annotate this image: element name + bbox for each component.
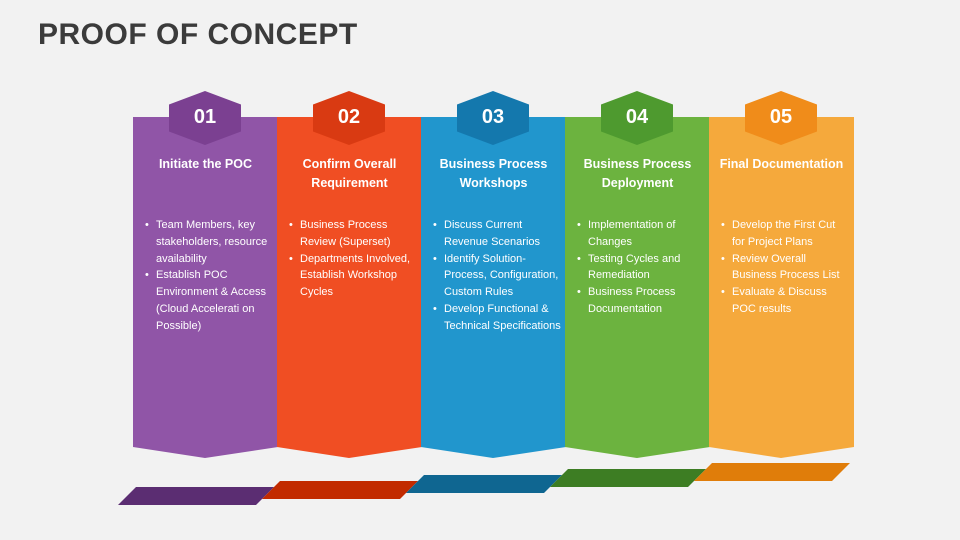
step-number-hexagon-icon: 04 bbox=[601, 91, 673, 145]
step-title: Business Process Workshops bbox=[427, 155, 560, 193]
step-number-hexagon-icon: 02 bbox=[313, 91, 385, 145]
process-steps-container: 01Initiate the POCTeam Members, key stak… bbox=[0, 0, 960, 540]
step-number-label: 05 bbox=[770, 107, 792, 129]
step-bullet-item: Review Overall Business Process List bbox=[720, 251, 850, 285]
step-bullet-item: Evaluate & Discuss POC results bbox=[720, 284, 850, 318]
step-card-bottom-point bbox=[421, 447, 566, 458]
step-bullet-item: Identify Solution-Process, Configuration… bbox=[432, 251, 562, 301]
step-number-label: 01 bbox=[194, 107, 216, 129]
step-card: 03Business Process WorkshopsDiscuss Curr… bbox=[421, 117, 566, 458]
step-title: Initiate the POC bbox=[139, 155, 272, 174]
step-card-bottom-point bbox=[565, 447, 710, 458]
hexagon-shape: 03 bbox=[457, 91, 529, 145]
step-bullet-item: Business Process Review (Superset) bbox=[288, 217, 418, 251]
step-card-bottom-point bbox=[133, 447, 278, 458]
step-bullet-list: Discuss Current Revenue ScenariosIdentif… bbox=[432, 217, 562, 335]
step-title: Final Documentation bbox=[715, 155, 848, 174]
step-card: 04Business Process DeploymentImplementat… bbox=[565, 117, 710, 458]
step-bullet-item: Business Process Documentation bbox=[576, 284, 706, 318]
step-bullet-item: Testing Cycles and Remediation bbox=[576, 251, 706, 285]
step-title: Confirm Overall Requirement bbox=[283, 155, 416, 193]
step-card: 05Final DocumentationDevelop the First C… bbox=[709, 117, 854, 458]
step-card-bottom-point bbox=[709, 447, 854, 458]
step-card-bottom-point bbox=[277, 447, 422, 458]
step-bullet-item: Establish POC Environment & Access (Clou… bbox=[144, 267, 274, 334]
step-card: 01Initiate the POCTeam Members, key stak… bbox=[133, 117, 278, 458]
step-card: 02Confirm Overall RequirementBusiness Pr… bbox=[277, 117, 422, 458]
step-bullet-item: Develop the First Cut for Project Plans bbox=[720, 217, 850, 251]
step-bullet-list: Implementation of ChangesTesting Cycles … bbox=[576, 217, 706, 318]
step-number-hexagon-icon: 05 bbox=[745, 91, 817, 145]
step-number-hexagon-icon: 01 bbox=[169, 91, 241, 145]
step-bullet-item: Develop Functional & Technical Specifica… bbox=[432, 301, 562, 335]
step-bullet-list: Business Process Review (Superset)Depart… bbox=[288, 217, 418, 301]
step-bullet-list: Team Members, key stakeholders, resource… bbox=[144, 217, 274, 335]
hexagon-shape: 04 bbox=[601, 91, 673, 145]
step-title: Business Process Deployment bbox=[571, 155, 704, 193]
step-bullet-list: Develop the First Cut for Project PlansR… bbox=[720, 217, 850, 318]
step-number-label: 03 bbox=[482, 107, 504, 129]
hexagon-shape: 05 bbox=[745, 91, 817, 145]
hexagon-shape: 01 bbox=[169, 91, 241, 145]
step-bullet-item: Team Members, key stakeholders, resource… bbox=[144, 217, 274, 267]
hexagon-shape: 02 bbox=[313, 91, 385, 145]
step-bullet-item: Implementation of Changes bbox=[576, 217, 706, 251]
step-number-hexagon-icon: 03 bbox=[457, 91, 529, 145]
step-number-label: 02 bbox=[338, 107, 360, 129]
step-number-label: 04 bbox=[626, 107, 648, 129]
step-bullet-item: Discuss Current Revenue Scenarios bbox=[432, 217, 562, 251]
slide-canvas: PROOF OF CONCEPT 01Initiate the POCTeam … bbox=[0, 0, 960, 540]
step-bullet-item: Departments Involved, Establish Workshop… bbox=[288, 251, 418, 301]
